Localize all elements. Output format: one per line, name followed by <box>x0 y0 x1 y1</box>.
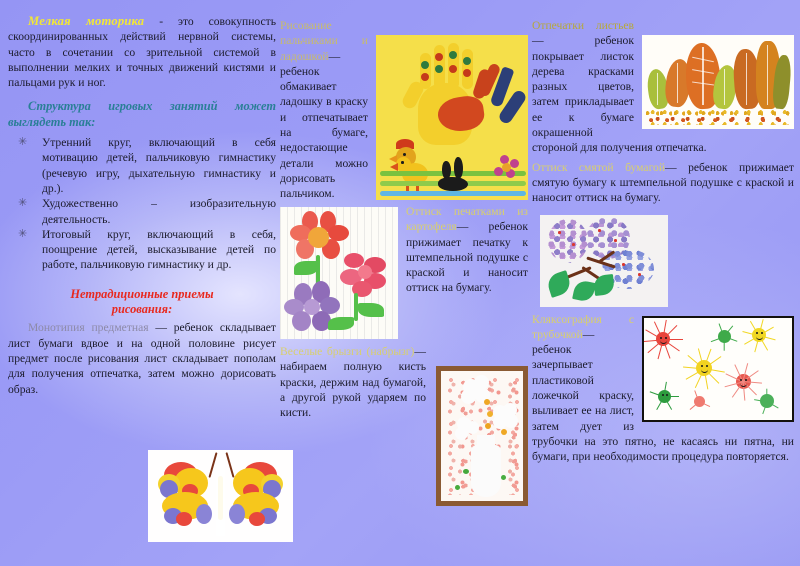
fingers-body: — ребенок обмакивает ладошку в краску и … <box>280 50 368 201</box>
asterisk-bullet-icon: ✳ <box>18 196 27 211</box>
butterfly-monotype-image <box>148 450 293 542</box>
blow-paint-suns-image <box>642 316 794 422</box>
asterisk-bullet-icon: ✳ <box>18 227 27 242</box>
techniques-heading-line2: рисования: <box>8 302 276 317</box>
leaves-lead: Отпечатки листьев <box>532 19 634 32</box>
crumpled-paragraph: Оттиск смятой бумагой— ребенок прижимает… <box>532 160 794 206</box>
monotype-paragraph: Монотипия предметная — ребенок складывае… <box>8 320 276 396</box>
spray-painting-image <box>436 366 528 506</box>
definition-lead: Мелкая моторика <box>28 14 144 28</box>
list-item: ✳ Утренний круг, включающий в себя мотив… <box>8 135 276 196</box>
potato-stamp-flowers-image <box>280 207 398 339</box>
crumpled-lead: Оттиск смятой бумагой <box>532 161 665 174</box>
list-item-label: Итоговый круг, включающий в себя, поощре… <box>42 228 276 272</box>
handprint-rooster-image <box>376 35 528 200</box>
list-item: ✳ Итоговый круг, включающий в себя, поощ… <box>8 227 276 273</box>
definition-paragraph: Мелкая моторика - это совокупность скоор… <box>8 14 276 90</box>
slide-canvas: Мелкая моторика - это совокупность скоор… <box>0 0 800 566</box>
leaf-prints-image <box>642 35 794 129</box>
asterisk-bullet-icon: ✳ <box>18 135 27 150</box>
fingers-lead: Рисование пальчиками и ладошкой <box>280 19 368 63</box>
techniques-heading-line1: Нетрадиционные приемы <box>8 287 276 302</box>
middle-column: Рисование пальчиками и ладошкой— ребенок… <box>280 18 528 508</box>
crumpled-paper-lilac-image <box>540 215 668 307</box>
list-item-label: Художественно – изобразительную деятельн… <box>42 197 276 225</box>
monotype-lead: Монотипия предметная <box>28 321 149 334</box>
structure-heading: Структура игровых занятий может выглядет… <box>8 99 276 130</box>
right-column: Отпечатки листьев — ребенок покрывает ли… <box>532 18 794 465</box>
spray-lead: Веселые брызги (набрызг) <box>280 345 414 358</box>
left-column: Мелкая моторика - это совокупность скоор… <box>8 14 276 397</box>
list-item-label: Утренний круг, включающий в себя мотивац… <box>42 136 276 195</box>
structure-bullet-list: ✳ Утренний круг, включающий в себя мотив… <box>8 135 276 273</box>
list-item: ✳ Художественно – изобразительную деятел… <box>8 196 276 227</box>
